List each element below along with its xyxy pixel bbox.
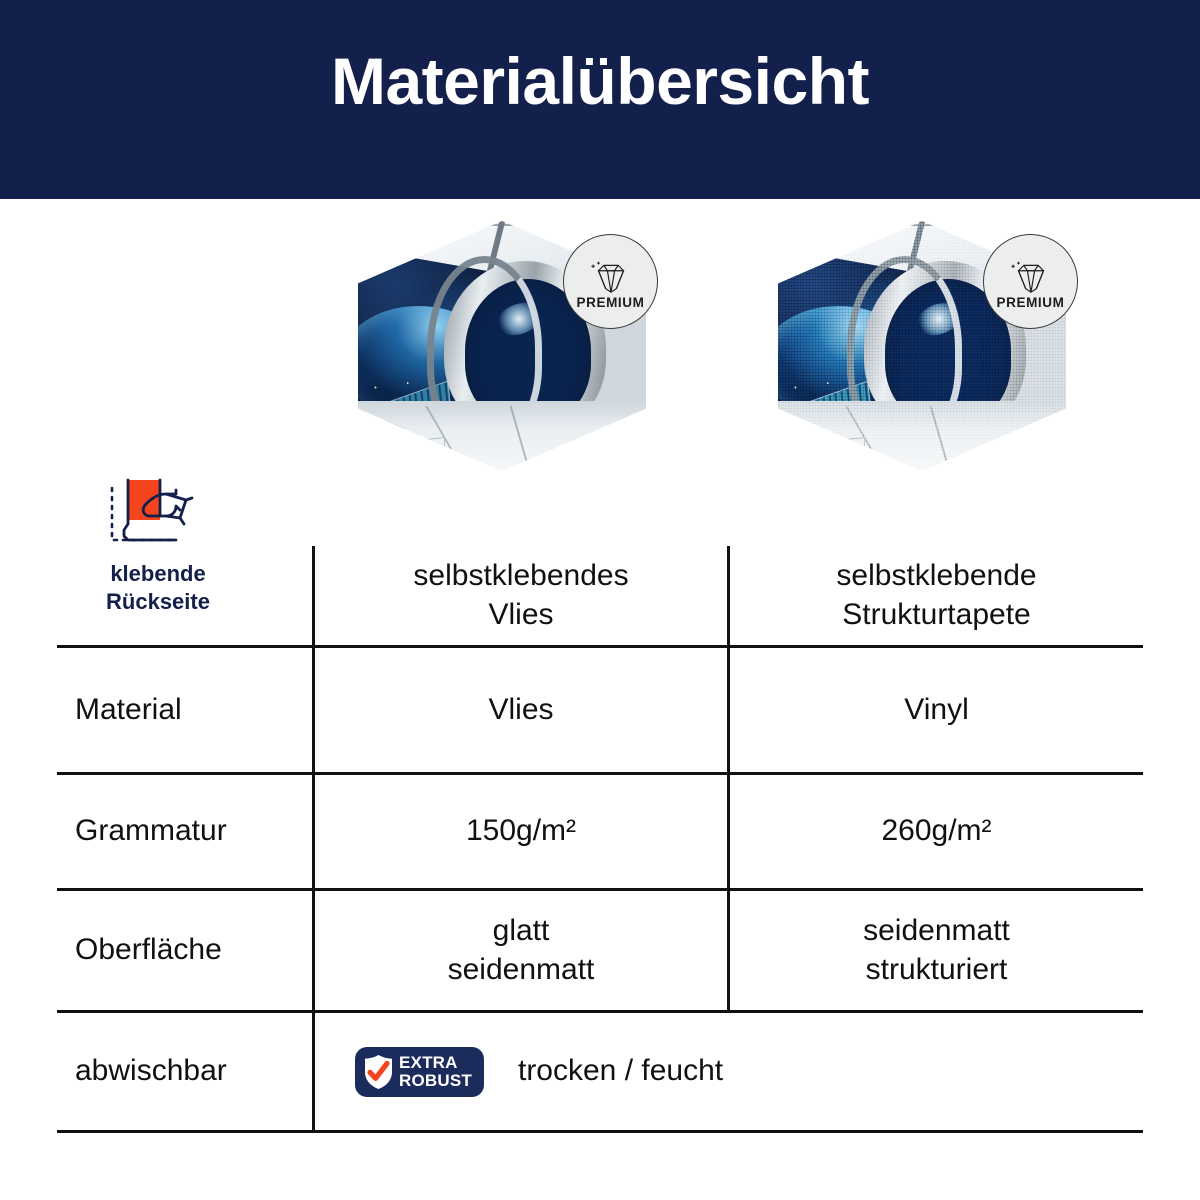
- table-cell-empty-label: [57, 546, 312, 645]
- extra-robust-badge-text: EXTRA ROBUST: [399, 1054, 472, 1089]
- product-1-name-line2: Vlies: [413, 596, 628, 634]
- row-value-oberflaeche-product-2: seidenmatt strukturiert: [727, 891, 1143, 1010]
- oberflaeche-p2-line2: strukturiert: [863, 951, 1010, 989]
- table-cell-product-1-name: selbstklebendes Vlies: [312, 546, 727, 645]
- table-row-oberflaeche: Oberfläche glatt seidenmatt seidenmatt s…: [57, 888, 1143, 1010]
- premium-badge-vlies: PREMIUM: [563, 234, 658, 329]
- product-1-name-line1: selbstklebendes: [413, 557, 628, 595]
- row-value-grammatur-product-1: 150g/m²: [312, 775, 727, 888]
- page-title: Materialübersicht: [0, 44, 1200, 120]
- table-cell-product-2-name: selbstklebende Strukturtapete: [727, 546, 1143, 645]
- scene-bench: [790, 437, 865, 457]
- scene-floor: [778, 401, 1066, 471]
- row-value-oberflaeche-product-1: glatt seidenmatt: [312, 891, 727, 1010]
- row-label-material: Material: [57, 648, 312, 772]
- product-2-name-line2: Strukturtapete: [836, 596, 1036, 634]
- oberflaeche-p2-line1: seidenmatt: [863, 912, 1010, 950]
- row-value-material-product-1: Vlies: [312, 648, 727, 772]
- product-2-name-line1: selbstklebende: [836, 557, 1036, 595]
- header-banner: Materialübersicht: [0, 0, 1200, 199]
- table-row-product-names: selbstklebendes Vlies selbstklebende Str…: [57, 546, 1143, 645]
- shield-check-icon: [363, 1054, 394, 1090]
- extra-robust-badge: EXTRA ROBUST: [355, 1047, 484, 1097]
- oberflaeche-p1-line2: seidenmatt: [448, 951, 595, 989]
- oberflaeche-p1-line1: glatt: [448, 912, 595, 950]
- extra-robust-line2: ROBUST: [399, 1072, 472, 1089]
- scene-bench: [370, 437, 445, 457]
- diamond-icon: [1009, 260, 1053, 294]
- table-row-abwischbar: abwischbar EXTRA ROBUST trocken / feucht: [57, 1010, 1143, 1133]
- table-row-grammatur: Grammatur 150g/m² 260g/m²: [57, 772, 1143, 888]
- extra-robust-line1: EXTRA: [399, 1054, 472, 1071]
- premium-badge-label: PREMIUM: [577, 295, 645, 310]
- diamond-icon: [589, 260, 633, 294]
- premium-badge-label: PREMIUM: [997, 295, 1065, 310]
- row-label-oberflaeche: Oberfläche: [57, 891, 312, 1010]
- abwischbar-value-text: trocken / feucht: [518, 1052, 723, 1090]
- premium-badge-strukturtapete: PREMIUM: [983, 234, 1078, 329]
- row-value-grammatur-product-2: 260g/m²: [727, 775, 1143, 888]
- material-comparison-table: selbstklebendes Vlies selbstklebende Str…: [57, 546, 1143, 1133]
- peel-adhesive-back-icon: [102, 474, 214, 552]
- scene-floor: [358, 401, 646, 471]
- table-row-material: Material Vlies Vinyl: [57, 645, 1143, 772]
- material-overview-infographic: Materialübersicht: [0, 0, 1200, 1200]
- row-label-abwischbar: abwischbar: [57, 1013, 312, 1130]
- row-label-grammatur: Grammatur: [57, 775, 312, 888]
- row-value-abwischbar: EXTRA ROBUST trocken / feucht: [312, 1013, 1143, 1130]
- row-value-material-product-2: Vinyl: [727, 648, 1143, 772]
